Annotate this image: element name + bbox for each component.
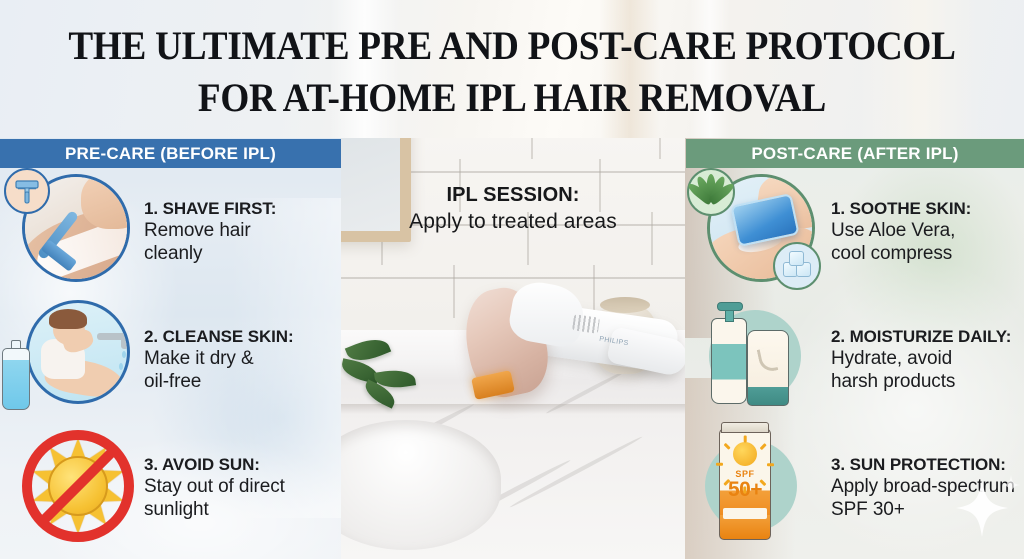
decorative-leaves: [341, 330, 461, 420]
cool-compress-on-hand-photo: [685, 168, 825, 296]
list-item-body-line1: Use Aloe Vera,: [831, 220, 1018, 242]
pump-bottle-icon: [711, 318, 747, 404]
list-item-text: 3. AVOID SUN: Stay out of direct sunligh…: [144, 455, 341, 521]
pre-care-banner-label: PRE-CARE (BEFORE IPL): [65, 144, 276, 164]
philips-ipl-device: PHILIPS: [449, 282, 679, 422]
list-item-body-line1: Hydrate, avoid: [831, 348, 1018, 370]
title-band: THE ULTIMATE PRE AND POST-CARE PROTOCOL …: [0, 0, 1024, 138]
list-item-heading: 2. MOISTURIZE DAILY:: [831, 327, 1018, 347]
list-item-text: 2. MOISTURIZE DAILY: Hydrate, avoid hars…: [831, 327, 1024, 393]
list-item-body-line2: cleanly: [144, 243, 335, 265]
post-care-banner-label: POST-CARE (AFTER IPL): [751, 144, 958, 164]
list-item-heading: 3. AVOID SUN:: [144, 455, 335, 475]
list-item-heading: 1. SOOTHE SKIN:: [831, 199, 1018, 219]
list-item[interactable]: 3. AVOID SUN: Stay out of direct sunligh…: [0, 424, 341, 552]
lotion-bottle-and-cream-tube-icon: [685, 296, 825, 424]
center-caption-heading: IPL SESSION:: [341, 184, 685, 207]
sunscreen-tube-icon: SPF 50+: [685, 424, 825, 552]
page-title-line1: THE ULTIMATE PRE AND POST-CARE PROTOCOL: [36, 0, 988, 66]
spf-label-value: 50+: [719, 479, 771, 500]
list-item-text: 2. CLEANSE SKIN: Make it dry & oil-free: [144, 327, 341, 393]
aloe-vera-icon: [687, 168, 735, 216]
sparkle-decoration: [956, 479, 1008, 537]
list-item-body-line2: harsh products: [831, 371, 1018, 393]
list-item[interactable]: 1. SOOTHE SKIN: Use Aloe Vera, cool comp…: [685, 168, 1024, 296]
list-item-body-line2: cool compress: [831, 243, 1018, 265]
list-item[interactable]: 2. MOISTURIZE DAILY: Hydrate, avoid hars…: [685, 296, 1024, 424]
razor-icon: [4, 168, 50, 214]
list-item-body-line2: sunlight: [144, 499, 335, 521]
no-sun-prohibition-icon: [0, 424, 140, 552]
washing-face-illustration: [0, 296, 140, 424]
page-title: THE ULTIMATE PRE AND POST-CARE PROTOCOL …: [0, 0, 1024, 118]
infographic-canvas: PHILIPS IPL SESSION: Apply to treated ar…: [0, 0, 1024, 559]
list-item-heading: 2. CLEANSE SKIN:: [144, 327, 335, 347]
list-item-body-line2: oil-free: [144, 371, 335, 393]
pre-care-banner: PRE-CARE (BEFORE IPL): [0, 139, 341, 168]
list-item[interactable]: 2. CLEANSE SKIN: Make it dry & oil-free: [0, 296, 341, 424]
list-item-body-line1: Make it dry &: [144, 348, 335, 370]
sparkle-decoration-small: [1002, 475, 1020, 495]
list-item-text: 1. SHAVE FIRST: Remove hair cleanly: [144, 199, 341, 265]
center-caption: IPL SESSION: Apply to treated areas: [341, 184, 685, 234]
list-item-heading: 3. SUN PROTECTION:: [831, 455, 1018, 475]
shaving-leg-photo: [0, 168, 140, 296]
list-item[interactable]: 1. SHAVE FIRST: Remove hair cleanly: [0, 168, 341, 296]
post-care-banner: POST-CARE (AFTER IPL): [686, 139, 1024, 168]
spf-label: SPF 50+: [719, 470, 771, 500]
list-item-body-line1: Remove hair: [144, 220, 335, 242]
center-caption-body: Apply to treated areas: [341, 210, 685, 234]
pre-care-items: 1. SHAVE FIRST: Remove hair cleanly: [0, 168, 341, 552]
list-item-body-line1: Stay out of direct: [144, 476, 335, 498]
sun-icon: [733, 442, 757, 466]
list-item-heading: 1. SHAVE FIRST:: [144, 199, 335, 219]
page-title-line2: FOR AT-HOME IPL HAIR REMOVAL: [36, 66, 988, 118]
list-item-text: 1. SOOTHE SKIN: Use Aloe Vera, cool comp…: [831, 199, 1024, 265]
ice-cubes-icon: [773, 242, 821, 290]
